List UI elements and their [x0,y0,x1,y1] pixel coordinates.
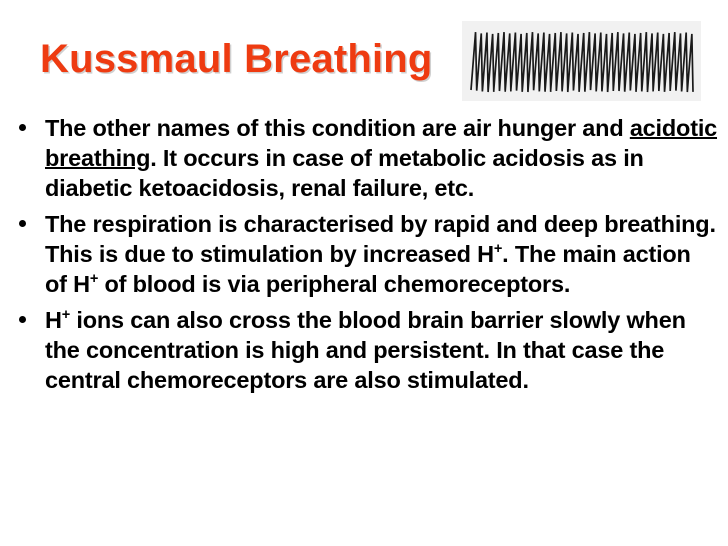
bullet-point-icon [19,220,26,227]
bullet-point-icon [19,124,26,131]
bullet-point-icon [19,316,26,323]
page-title: Kussmaul Breathing [40,38,433,80]
bullet-text: The respiration is characterised by rapi… [45,211,716,297]
slide: Kussmaul Breathing The other names of th… [0,0,728,546]
kussmaul-respiration-trace-image [462,21,701,101]
slide-body-list: The other names of this condition are ai… [12,113,718,395]
list-item: H+ ions can also cross the blood brain b… [12,305,718,395]
bullet-text: H+ ions can also cross the blood brain b… [45,307,686,393]
waveform-svg [462,21,701,101]
list-item: The other names of this condition are ai… [12,113,718,203]
bullet-text: The other names of this condition are ai… [45,115,717,201]
list-item: The respiration is characterised by rapi… [12,209,718,299]
